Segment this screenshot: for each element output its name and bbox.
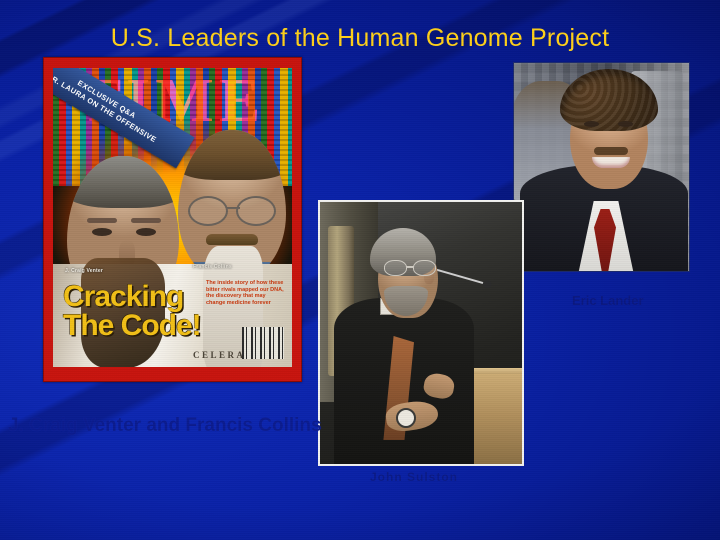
magazine-headline: Cracking The Code!	[63, 282, 201, 340]
glasses-bridge	[226, 207, 240, 209]
lens-right	[413, 260, 436, 276]
barcode-icon	[242, 327, 284, 359]
magazine-celera-logo: CELERA	[193, 350, 246, 360]
caption-lander: Eric Lander	[572, 293, 644, 308]
eye-left	[584, 121, 599, 127]
caption-podium: John Sulston	[370, 470, 458, 484]
lens-left	[384, 260, 407, 276]
eye-right	[136, 228, 156, 236]
magazine-headline-line1: Cracking	[63, 282, 201, 311]
glasses-bridge	[406, 266, 414, 268]
eye-right	[618, 121, 633, 127]
eyebrow-right	[131, 218, 161, 223]
magazine-cover-art: TIME	[53, 68, 292, 367]
magazine-blurb: The inside story of how these bitter riv…	[206, 280, 284, 306]
wristwatch-icon	[396, 408, 416, 428]
glasses-icon	[186, 196, 278, 222]
eye-left	[92, 228, 112, 236]
moustache	[206, 234, 258, 245]
moustache	[594, 147, 628, 155]
eyebrow-left	[87, 218, 117, 223]
photo-eric-lander	[513, 62, 690, 272]
smile	[592, 157, 630, 168]
page-title: U.S. Leaders of the Human Genome Project	[0, 24, 720, 53]
caption-venter-collins: J. Craig Venter and Francis Collins	[8, 415, 322, 437]
lens-right	[236, 196, 276, 226]
slide: U.S. Leaders of the Human Genome Project…	[0, 0, 720, 540]
magazine-caption-venter: J. Craig Venter	[65, 268, 103, 274]
hair	[67, 156, 179, 208]
glasses-icon	[384, 260, 436, 275]
magazine-headline-line2: The Code!	[63, 311, 201, 340]
lens-left	[188, 196, 228, 226]
time-magazine-cover: TIME	[43, 57, 302, 382]
magazine-caption-collins: Francis Collins	[193, 264, 232, 270]
photo-speaker-podium	[318, 200, 524, 466]
